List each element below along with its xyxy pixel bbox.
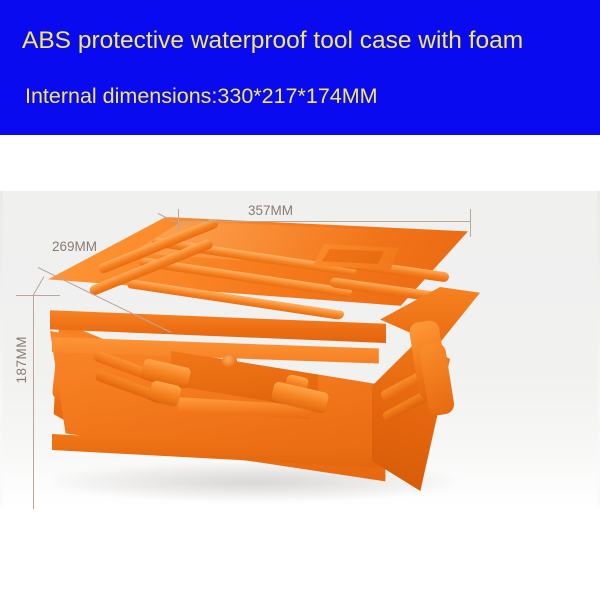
product-image-page: ABS protective waterproof tool case with… [0, 0, 600, 600]
dimension-label-height: 187MM [14, 336, 29, 384]
product-photo-panel: 357MM 269MM 187MM [0, 191, 600, 509]
dimension-tick-width-right [470, 209, 471, 237]
dimension-label-width: 357MM [248, 203, 293, 218]
dimension-label-depth: 269MM [52, 239, 97, 254]
internal-dimensions-text: Internal dimensions:330*217*174MM [25, 83, 585, 109]
dimension-line-height [33, 295, 34, 509]
case-screw [222, 355, 237, 367]
dimension-line-width [178, 221, 470, 222]
header-banner: ABS protective waterproof tool case with… [0, 0, 600, 135]
product-title: ABS protective waterproof tool case with… [22, 26, 582, 56]
dimension-tick-height-top [16, 295, 60, 296]
dimension-tick-width-left [178, 209, 179, 233]
